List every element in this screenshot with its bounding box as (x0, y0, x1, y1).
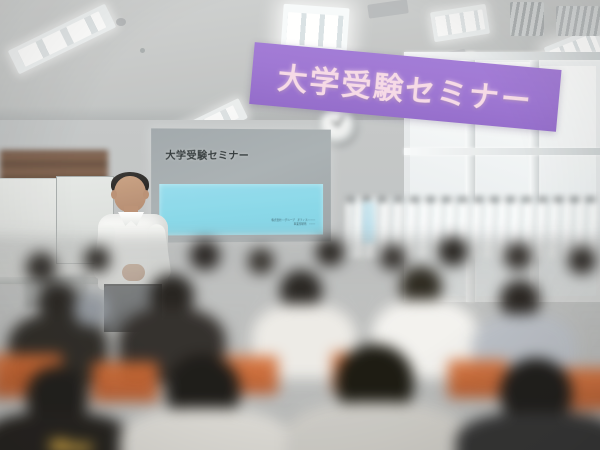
window-transom (404, 148, 600, 155)
photo-scene: 大学受験セミナー 株式会社○○グループ オフィス○○○○○ 事業部統括 ○○○○… (0, 0, 600, 450)
projection-screen: 大学受験セミナー 株式会社○○グループ オフィス○○○○○ 事業部統括 ○○○○ (151, 128, 331, 242)
presenter-ear (111, 190, 117, 199)
audience-member (74, 292, 110, 326)
audience-member (568, 246, 596, 274)
desk-object-dark (68, 434, 120, 444)
audience-member (504, 242, 532, 270)
slide-color-band: 株式会社○○グループ オフィス○○○○○ 事業部統括 ○○○○ (159, 184, 323, 236)
chair (448, 360, 508, 398)
slide-credit-text: 株式会社○○グループ オフィス○○○○○ 事業部統括 ○○○○ (271, 219, 315, 227)
ceiling-vent (510, 2, 544, 36)
audience-member (248, 248, 274, 274)
audience-member-torso (286, 402, 466, 450)
audience-member (26, 252, 56, 282)
audience-member (190, 240, 220, 270)
audience-member-torso (120, 408, 290, 450)
audience-member (438, 236, 468, 266)
ceiling-speaker (116, 18, 126, 26)
ceiling-fitting (140, 48, 145, 53)
presenter-ear (143, 190, 149, 199)
ceiling-vent (556, 6, 600, 36)
slide-title: 大学受験セミナー (165, 147, 249, 162)
audience-member (316, 238, 344, 266)
audience-member (500, 280, 540, 318)
audience-member (380, 244, 406, 270)
audience-member (84, 246, 110, 272)
audience (0, 236, 600, 450)
chair (92, 362, 158, 402)
